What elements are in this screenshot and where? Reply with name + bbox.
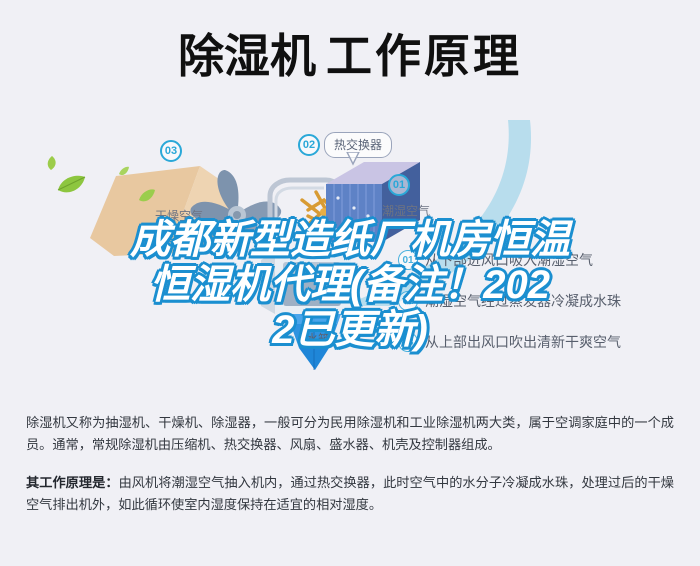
caption-row-01: 01 从下部进风口吸入潮湿空气 (398, 250, 698, 270)
caption-row-03: 03 从上部出风口吹出清新干爽空气 (398, 332, 698, 352)
paragraph-2-lead: 其工作原理是： (26, 475, 119, 490)
label-dry-air: 干燥空气 (155, 207, 203, 224)
page-title: 除湿机工作原理 (0, 0, 700, 112)
caption-text-01: 从下部进风口吸入潮湿空气 (425, 250, 593, 270)
paragraph-2-rest: 由风机将潮湿空气抽入机内，通过热交换器，此时空气中的水分子冷凝成水珠，处理过后的… (26, 475, 674, 512)
title-part1: 除湿机 (178, 30, 316, 82)
paragraph-2: 其工作原理是：由风机将潮湿空气抽入机内，通过热交换器，此时空气中的水分子冷凝成水… (26, 472, 674, 516)
diagram-marker-03: 03 (160, 140, 182, 162)
diagram-marker-01: 01 (388, 174, 410, 196)
title-text: 除湿机工作原理 (178, 33, 522, 79)
label-humid-air: 潮湿空气 (382, 202, 430, 219)
illustration-area: 01 02 03 热交换器 干燥空气 潮湿空气 水箱 01 从下部进风口吸入潮湿… (0, 112, 700, 408)
page-root: 除湿机工作原理 (0, 0, 700, 566)
caption-number-03: 03 (398, 332, 418, 352)
caption-text-03: 从上部出风口吹出清新干爽空气 (425, 332, 621, 352)
leaf-icon-large (56, 174, 86, 201)
caption-row-02: 02 潮湿空气经过蒸发器冷凝成水珠 (398, 291, 698, 311)
caption-text-02: 潮湿空气经过蒸发器冷凝成水珠 (425, 291, 621, 311)
diagram-caption-list: 01 从下部进风口吸入潮湿空气 02 潮湿空气经过蒸发器冷凝成水珠 03 从上部… (398, 250, 698, 373)
title-part2: 工作原理 (326, 30, 522, 82)
body-copy: 除湿机又称为抽湿机、干燥机、除湿器，一般可分为民用除湿机和工业除湿机两大类，属于… (0, 412, 700, 530)
leaf-icon-small (46, 156, 58, 175)
callout-pointer-icon (346, 152, 360, 166)
leaf-icon-tiny (118, 164, 130, 182)
paragraph-1: 除湿机又称为抽湿机、干燥机、除湿器，一般可分为民用除湿机和工业除湿机两大类，属于… (26, 412, 674, 456)
caption-number-01: 01 (398, 250, 418, 270)
label-water-tank: 水箱 (306, 330, 330, 347)
caption-number-02: 02 (398, 291, 418, 311)
diagram-marker-02: 02 (298, 134, 320, 156)
dehumidifier-body-icon (255, 252, 415, 402)
leaf-icon-mid (138, 188, 156, 209)
